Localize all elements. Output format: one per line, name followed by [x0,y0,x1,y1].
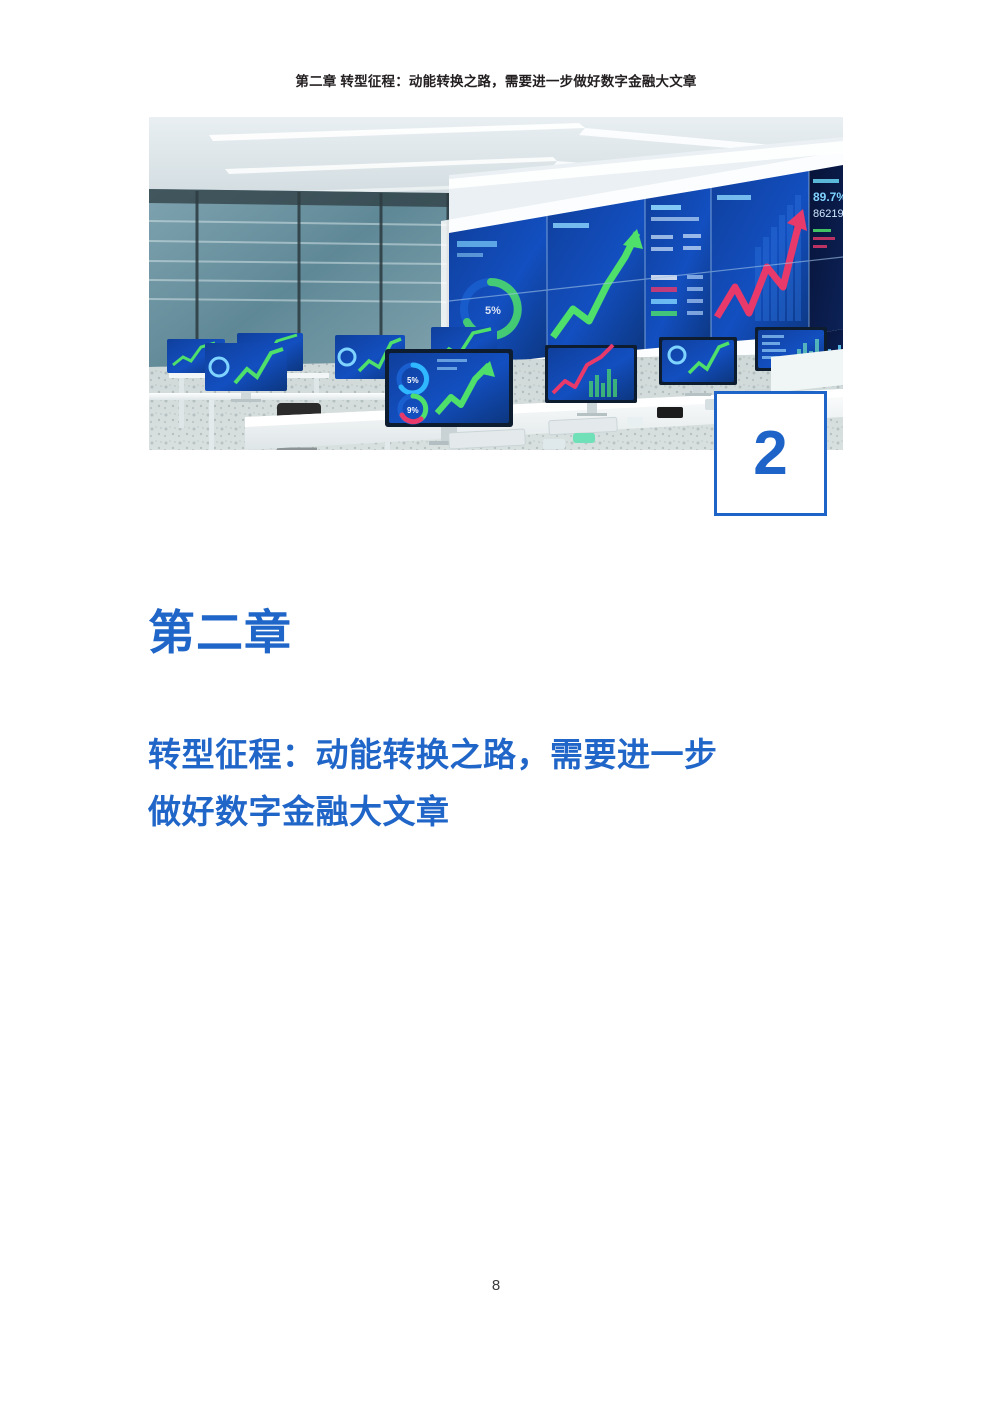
svg-text:9%: 9% [407,406,419,415]
svg-text:89.7%: 89.7% [813,190,843,204]
chapter-subtitle-line-1: 转型征程：动能转换之路，需要进一步 [148,727,848,784]
chapter-subtitle: 转型征程：动能转换之路，需要进一步 做好数字金融大文章 [148,727,848,841]
svg-text:5%: 5% [485,305,501,317]
chapter-subtitle-line-2: 做好数字金融大文章 [148,784,848,841]
svg-text:86219C95: 86219C95 [813,208,843,220]
document-page: 第二章 转型征程：动能转换之路，需要进一步做好数字金融大文章 [0,0,992,1403]
chapter-title: 第二章 [148,607,292,659]
page-number: 8 [0,1277,992,1294]
running-header: 第二章 转型征程：动能转换之路，需要进一步做好数字金融大文章 [0,70,992,90]
chapter-number-text: 2 [753,423,787,485]
svg-text:5%: 5% [407,376,419,385]
chapter-number-badge: 2 [714,391,827,516]
